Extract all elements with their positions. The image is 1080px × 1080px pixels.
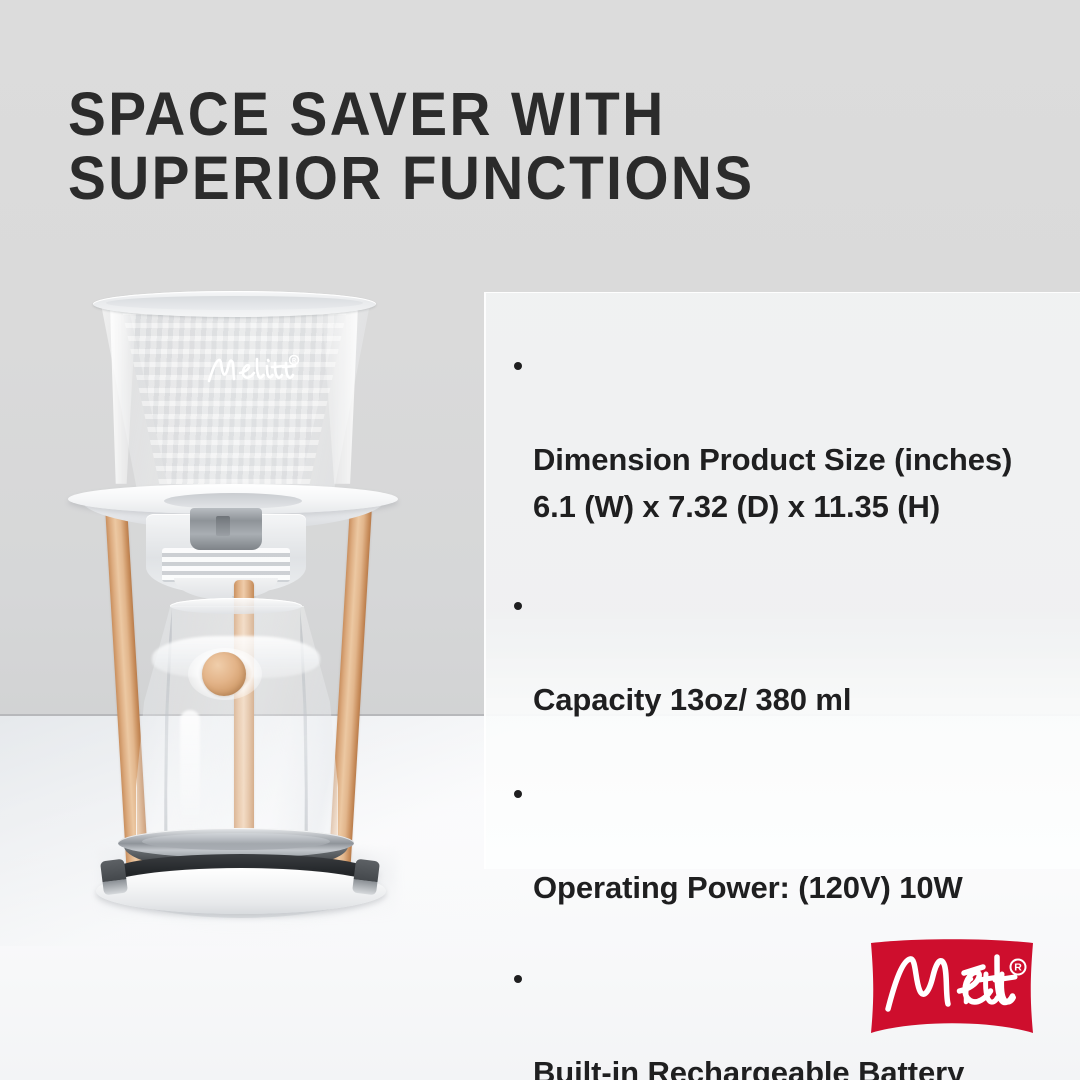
product-marketing-image: SPACE SAVER WITH SUPERIOR FUNCTIONS xyxy=(0,0,1080,1080)
spec-bullet-text: Dimension Product Size (inches) 6.1 (W) … xyxy=(533,442,1012,524)
svg-text:R: R xyxy=(1014,962,1022,974)
glass-cone-rim xyxy=(93,291,376,317)
spec-bullet-operating-power: Operating Power: (120V) 10W xyxy=(514,770,1054,911)
svg-text:R: R xyxy=(292,359,297,365)
base-foot-right xyxy=(352,859,380,896)
bullet-dot-icon xyxy=(514,602,522,610)
stand-platform-opening xyxy=(164,493,302,509)
bullet-dot-icon xyxy=(514,975,522,983)
spec-bullet-text: Operating Power: (120V) 10W xyxy=(533,870,963,905)
page-title: SPACE SAVER WITH SUPERIOR FUNCTIONS xyxy=(68,82,812,210)
product-brand-wordmark: R xyxy=(205,353,301,387)
wooden-knob xyxy=(202,652,246,696)
glass-carafe-neck-rim xyxy=(170,598,302,614)
product-photo: R xyxy=(60,280,440,930)
spec-bullet-capacity: Capacity 13oz/ 380 ml xyxy=(514,582,1054,723)
spec-bullet-text: Built-in Rechargeable Battery with USB C… xyxy=(533,1055,1038,1080)
base-foot-left xyxy=(100,859,128,896)
melitta-logo: R xyxy=(868,934,1036,1042)
base-white-top xyxy=(96,868,386,914)
spec-bullet-dimensions: Dimension Product Size (inches) 6.1 (W) … xyxy=(514,342,1054,530)
bullet-dot-icon xyxy=(514,790,522,798)
bullet-dot-icon xyxy=(514,362,522,370)
spec-bullet-text: Capacity 13oz/ 380 ml xyxy=(533,682,851,717)
appliance-base xyxy=(96,854,386,926)
brew-head-slats xyxy=(162,548,290,582)
glass-carafe-highlight xyxy=(180,710,200,828)
brew-head-base xyxy=(174,578,278,600)
glass-carafe xyxy=(136,598,336,860)
brew-head-metal-core xyxy=(190,508,262,550)
brew-head-assembly xyxy=(146,508,306,604)
